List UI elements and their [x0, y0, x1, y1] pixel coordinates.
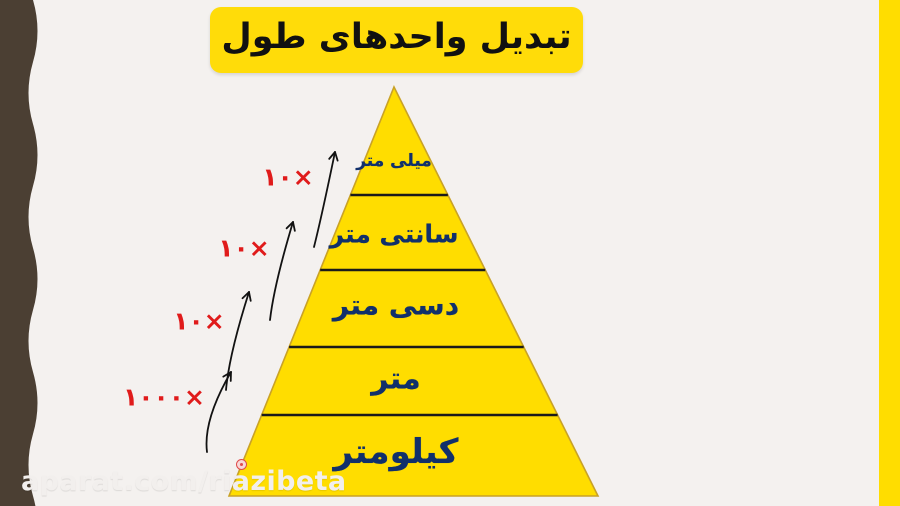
length-units-pyramid-diagram — [0, 0, 900, 506]
pyramid-tier-label-1: میلی متر — [356, 151, 432, 171]
pyramid-tier-label-5: کیلومتر — [334, 432, 459, 472]
multiplier-arrowhead-2-2 — [293, 222, 295, 231]
pyramid-tier-label-4: متر — [371, 362, 420, 397]
multiplier-annotation-1: ×۱۰ — [262, 163, 313, 192]
multiplier-annotation-4: ×۱۰۰۰ — [123, 383, 205, 412]
multiplier-annotation-2: ×۱۰ — [218, 234, 269, 263]
slide-canvas: تبدیل واحدهای طول میلی مترسانتی متردسی م… — [0, 0, 900, 506]
multiplier-annotation-3: ×۱۰ — [173, 307, 224, 336]
watermark-text: aparat.com/riazibeta — [21, 466, 347, 497]
multiplier-arrowhead-3-2 — [249, 292, 251, 301]
multiplier-arrow-curve-2 — [270, 222, 293, 320]
pyramid-tier-label-2: سانتی متر — [330, 220, 459, 249]
pyramid-tier-label-3: دسی متر — [333, 289, 459, 322]
multiplier-arrowhead-1-2 — [335, 152, 338, 161]
